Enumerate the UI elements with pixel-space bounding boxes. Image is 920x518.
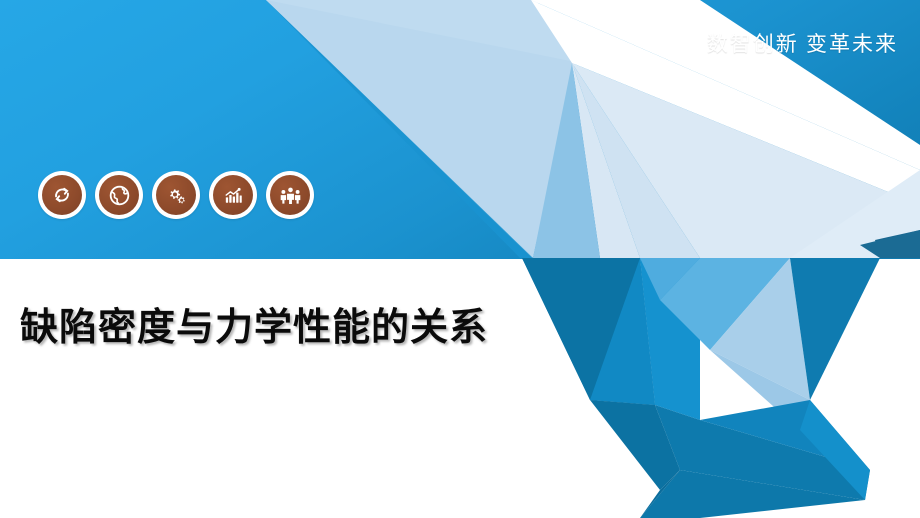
icon-badge-gears[interactable] [152,171,200,219]
header-tagline: 数智创新 变革未来 [707,28,898,58]
low-poly-artwork [0,0,920,518]
icon-badge-people[interactable] [266,171,314,219]
icon-badge-recycle[interactable] [38,171,86,219]
page-title: 缺陷密度与力学性能的关系 [20,296,488,351]
people-group-icon [270,175,310,215]
icon-row [38,171,314,219]
bar-chart-icon [213,175,253,215]
globe-icon [99,175,139,215]
slide-canvas: 数智创新 变革未来 [0,0,920,518]
gears-icon [156,175,196,215]
icon-badge-chart[interactable] [209,171,257,219]
icon-badge-globe[interactable] [95,171,143,219]
recycle-arrows-icon [42,175,82,215]
